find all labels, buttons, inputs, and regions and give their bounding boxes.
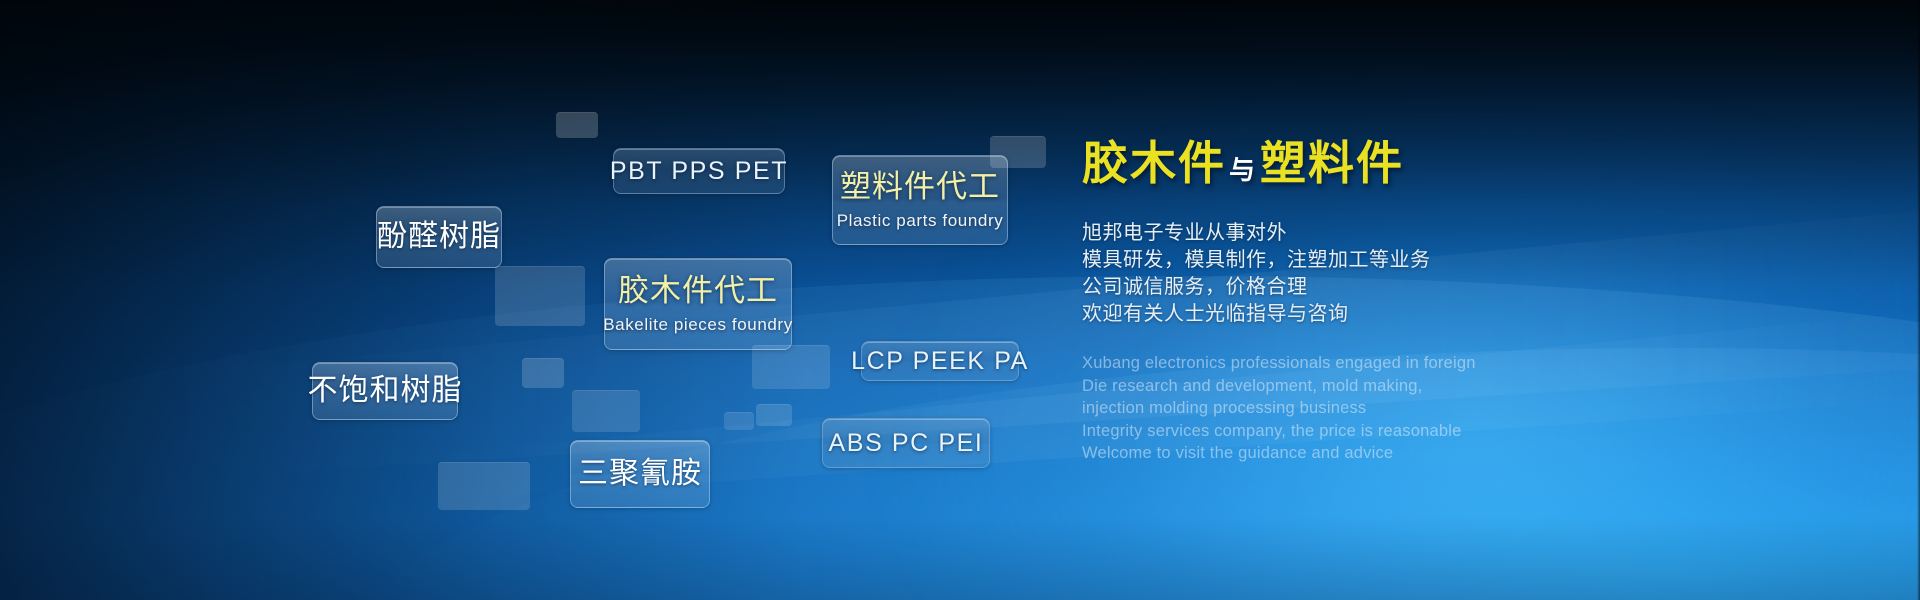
material-chip-label: LCP PEEK PA [851,349,1029,374]
description-line-en: injection molding processing business [1082,397,1782,420]
decorative-square [438,462,530,510]
resin-chip-label: 酚醛树脂 [377,222,501,252]
service-chip-title-en: Bakelite pieces foundry [603,316,793,333]
service-chip[interactable]: 塑料件代工Plastic parts foundry [832,155,1008,245]
resin-chip-label: 不饱和树脂 [308,376,463,406]
decorative-square [724,412,754,430]
decorative-square [572,390,640,432]
description-line-en: Integrity services company, the price is… [1082,420,1782,443]
decorative-square [495,266,585,326]
material-chip-label: ABS PC PEI [829,431,984,456]
service-chip-title-cn: 胶木件代工 [618,275,778,306]
resin-chip[interactable]: 三聚氰胺 [570,440,710,508]
decorative-square [522,358,564,388]
page-title: 胶木件与塑料件 [1082,140,1782,186]
decorative-square [752,345,830,389]
copy-block: 胶木件与塑料件 旭邦电子专业从事对外模具研发，模具制作，注塑加工等业务公司诚信服… [1082,140,1782,465]
decorative-square [756,404,792,426]
resin-chip[interactable]: 酚醛树脂 [376,206,502,268]
service-chip[interactable]: 胶木件代工Bakelite pieces foundry [604,258,792,350]
description-english: Xubang electronics professionals engaged… [1082,352,1782,465]
description-line-en: Die research and development, mold makin… [1082,375,1782,398]
description-line-cn: 公司诚信服务，价格合理 [1082,274,1782,301]
headline-connector: 与 [1226,155,1260,185]
resin-chip-label: 三聚氰胺 [578,459,702,489]
material-chip[interactable]: PBT PPS PET [613,148,785,194]
resin-chip[interactable]: 不饱和树脂 [312,362,458,420]
material-chip-label: PBT PPS PET [610,159,788,184]
service-chip-title-en: Plastic parts foundry [837,212,1004,229]
description-line-cn: 模具研发，模具制作，注塑加工等业务 [1082,247,1782,274]
headline-part-1: 胶木件 [1082,137,1226,189]
decorative-square [556,112,598,138]
description-line-cn: 旭邦电子专业从事对外 [1082,220,1782,247]
description-line-cn: 欢迎有关人士光临指导与咨询 [1082,301,1782,328]
promotional-banner: 酚醛树脂不饱和树脂三聚氰胺PBT PPS PETLCP PEEK PAABS P… [0,0,1920,600]
description-chinese: 旭邦电子专业从事对外模具研发，模具制作，注塑加工等业务公司诚信服务，价格合理欢迎… [1082,220,1782,328]
headline-part-2: 塑料件 [1260,137,1404,189]
description-line-en: Welcome to visit the guidance and advice [1082,442,1782,465]
service-chip-title-cn: 塑料件代工 [840,171,1000,202]
material-chip[interactable]: ABS PC PEI [822,418,990,468]
description-line-en: Xubang electronics professionals engaged… [1082,352,1782,375]
material-chip[interactable]: LCP PEEK PA [861,341,1019,381]
